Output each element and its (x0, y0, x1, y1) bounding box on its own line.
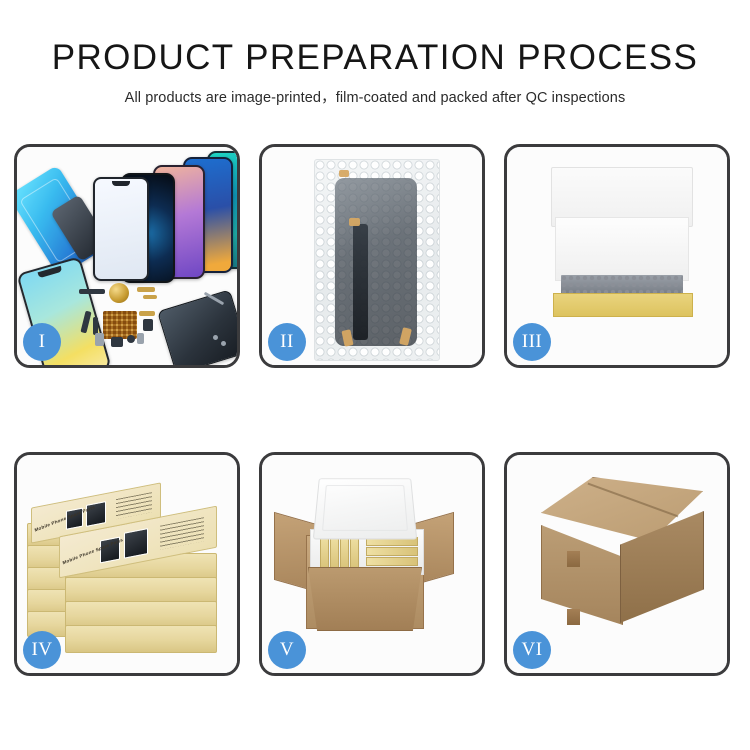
box-stack: Mobile Phone Spare Parts Mobile Phone Sp… (27, 469, 227, 655)
gold-box-v2 (330, 535, 339, 571)
foam-liner-lid (313, 478, 417, 539)
part-screw-1 (213, 335, 218, 340)
step-panel-2[interactable]: II (259, 144, 485, 368)
box-label-text-lines-b (160, 517, 204, 550)
box-label-image-a2 (86, 501, 106, 527)
step-badge-5: V (268, 631, 306, 669)
speaker-module-part (109, 283, 129, 303)
box-label-image-b2 (124, 528, 148, 559)
part-connector-2 (143, 319, 153, 331)
part-connector-1 (139, 311, 155, 316)
flex-cable-strip (353, 224, 368, 340)
part-strip-3 (143, 295, 157, 299)
carton-front-wall (308, 567, 422, 631)
screen-glass-panel (93, 177, 149, 281)
stacked-box-fr-4 (65, 625, 217, 653)
carton-left-face (541, 525, 623, 625)
step-panel-4[interactable]: Mobile Phone Spare Parts Mobile Phone Sp… (14, 452, 240, 676)
gold-box-h3 (366, 557, 418, 566)
process-step-grid: I II III (14, 144, 738, 676)
inner-box-open (539, 167, 701, 323)
step-panel-6[interactable]: VI (504, 452, 730, 676)
step-panel-5[interactable]: V (259, 452, 485, 676)
gold-box-v4 (350, 535, 359, 571)
screen-assembly-inside (335, 178, 417, 346)
step-badge-3: III (513, 323, 551, 361)
carton-tape-lower (567, 609, 580, 625)
page-subtitle: All products are image-printed，film-coat… (0, 88, 750, 108)
tape-mark-middle (349, 218, 360, 226)
part-camera (111, 337, 123, 347)
foam-sheet-white (555, 217, 689, 281)
tape-mark-top (339, 170, 349, 177)
page-header: PRODUCT PREPARATION PROCESS All products… (0, 38, 750, 108)
box-label-text-lines-a (116, 492, 152, 519)
phone-open-back-cover (157, 289, 240, 368)
step-badge-6: VI (513, 631, 551, 669)
part-sim-card (137, 333, 144, 344)
gold-box-v1 (320, 535, 329, 571)
step-badge-2: II (268, 323, 306, 361)
step-badge-4: IV (23, 631, 61, 669)
sealed-carton (525, 477, 715, 637)
bubble-wrap-bag (314, 159, 440, 361)
part-screw-2 (221, 341, 226, 346)
step-panel-1[interactable]: I (14, 144, 240, 368)
carton-tape-upper (567, 551, 580, 567)
box-front-yellow (553, 293, 693, 317)
page-title: PRODUCT PREPARATION PROCESS (0, 38, 750, 78)
step-badge-1: I (23, 323, 61, 361)
part-strip-1 (79, 289, 105, 294)
step-panel-3[interactable]: III (504, 144, 730, 368)
part-tray (95, 333, 104, 346)
part-strip-2 (137, 287, 155, 292)
gold-box-h2 (366, 547, 418, 556)
gold-box-v3 (340, 535, 349, 571)
part-button (127, 335, 135, 343)
